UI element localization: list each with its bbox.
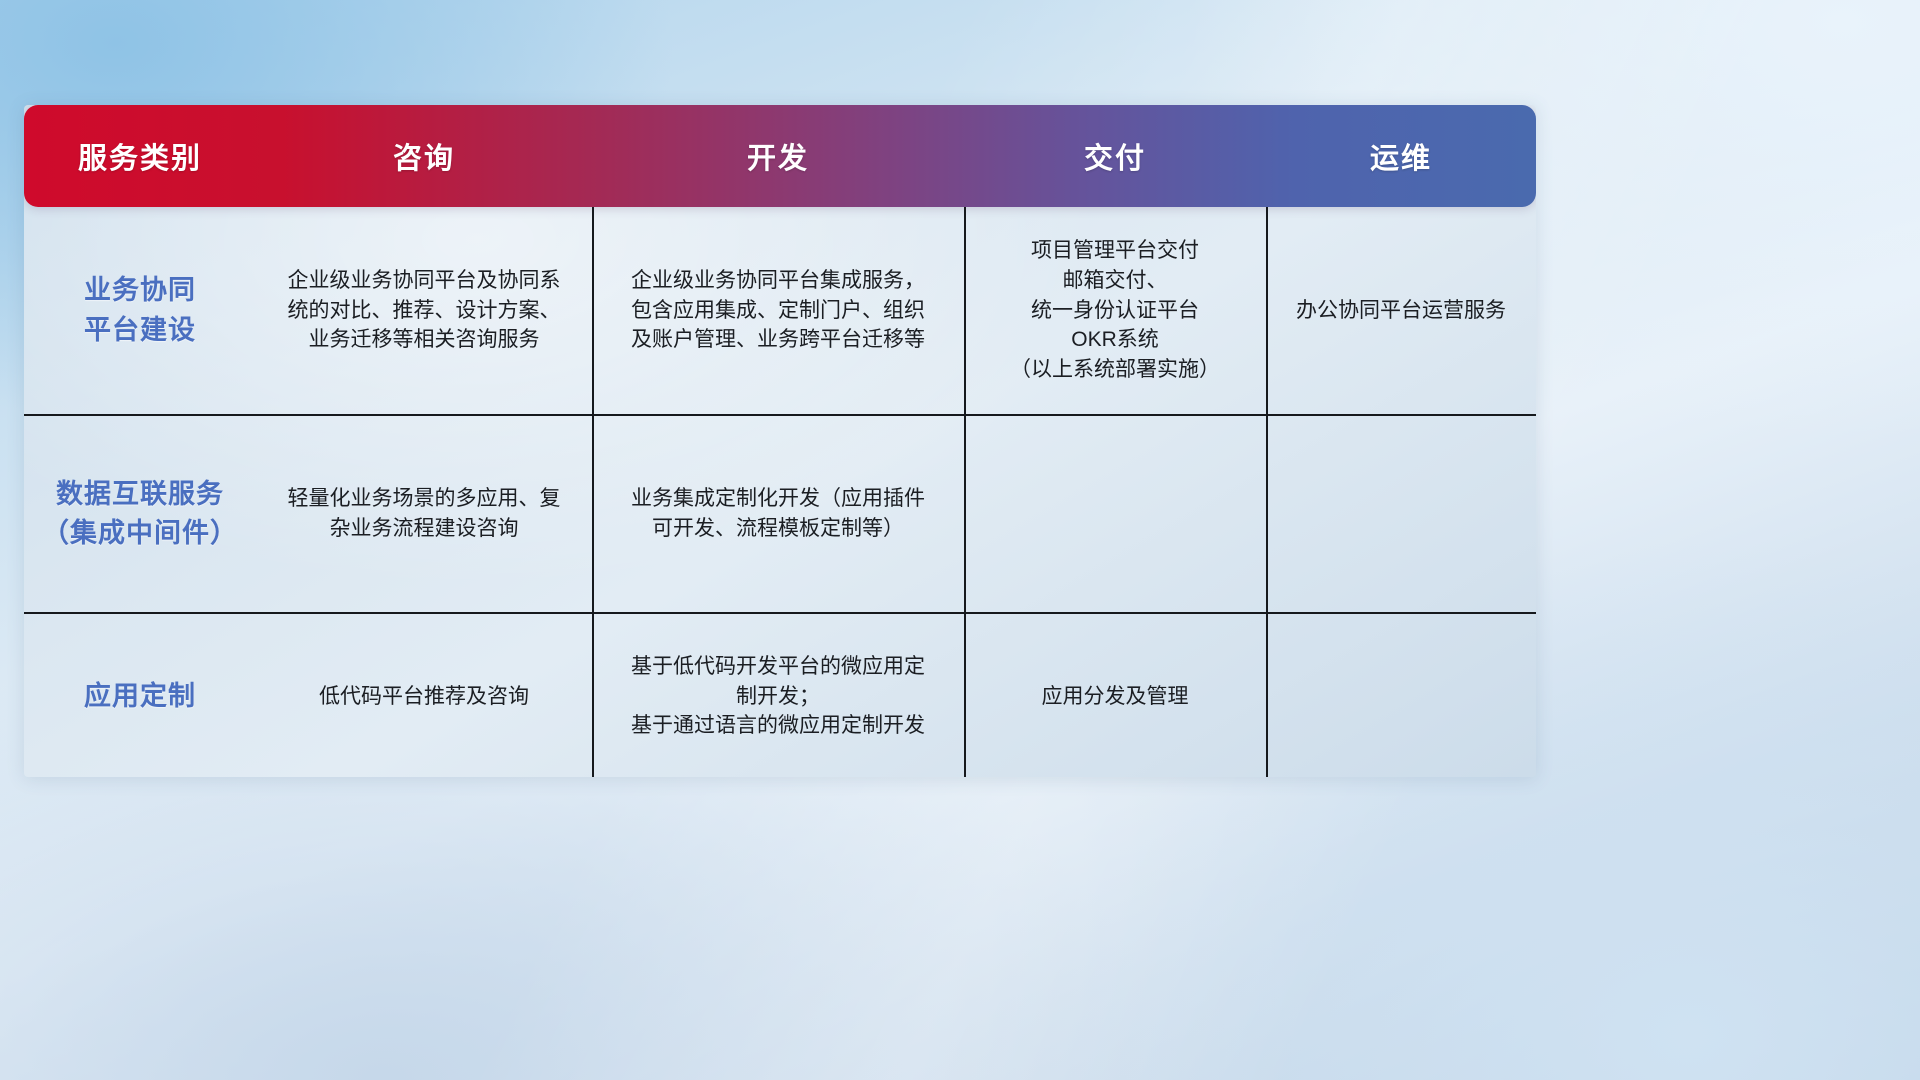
table-row: 应用定制 低代码平台推荐及咨询 基于低代码开发平台的微应用定 制开发； 基于通过… bbox=[24, 612, 1536, 777]
cell-delivery: 项目管理平台交付 邮箱交付、 统一身份认证平台 OKR系统 （以上系统部署实施） bbox=[964, 207, 1266, 414]
cell-development: 业务集成定制化开发（应用插件 可开发、流程模板定制等） bbox=[592, 416, 964, 612]
cell-development: 基于低代码开发平台的微应用定 制开发； 基于通过语言的微应用定制开发 bbox=[592, 614, 964, 777]
column-header-consulting: 咨询 bbox=[256, 135, 592, 177]
table-row: 业务协同 平台建设 企业级业务协同平台及协同系 统的对比、推荐、设计方案、 业务… bbox=[24, 207, 1536, 414]
column-header-service-category: 服务类别 bbox=[24, 135, 256, 177]
cell-consulting: 低代码平台推荐及咨询 bbox=[256, 614, 592, 777]
cell-operations bbox=[1266, 614, 1536, 777]
cell-consulting: 企业级业务协同平台及协同系 统的对比、推荐、设计方案、 业务迁移等相关咨询服务 bbox=[256, 207, 592, 414]
row-category-label: 业务协同 平台建设 bbox=[24, 207, 256, 414]
row-category-label: 应用定制 bbox=[24, 614, 256, 777]
table-row: 数据互联服务 （集成中间件） 轻量化业务场景的多应用、复 杂业务流程建设咨询 业… bbox=[24, 414, 1536, 612]
column-header-delivery: 交付 bbox=[964, 135, 1266, 177]
cell-operations: 办公协同平台运营服务 bbox=[1266, 207, 1536, 414]
cell-development: 企业级业务协同平台集成服务， 包含应用集成、定制门户、组织 及账户管理、业务跨平… bbox=[592, 207, 964, 414]
column-header-development: 开发 bbox=[592, 135, 964, 177]
table-header-row: 服务类别 咨询 开发 交付 运维 bbox=[24, 105, 1536, 207]
cell-consulting: 轻量化业务场景的多应用、复 杂业务流程建设咨询 bbox=[256, 416, 592, 612]
cell-operations bbox=[1266, 416, 1536, 612]
row-category-label: 数据互联服务 （集成中间件） bbox=[24, 416, 256, 612]
table-body: 业务协同 平台建设 企业级业务协同平台及协同系 统的对比、推荐、设计方案、 业务… bbox=[24, 207, 1536, 777]
column-header-operations: 运维 bbox=[1266, 135, 1536, 177]
cell-delivery bbox=[964, 416, 1266, 612]
cell-delivery: 应用分发及管理 bbox=[964, 614, 1266, 777]
service-matrix-table: 服务类别 咨询 开发 交付 运维 业务协同 平台建设 企业级业务协同平台及协同系… bbox=[24, 105, 1536, 777]
